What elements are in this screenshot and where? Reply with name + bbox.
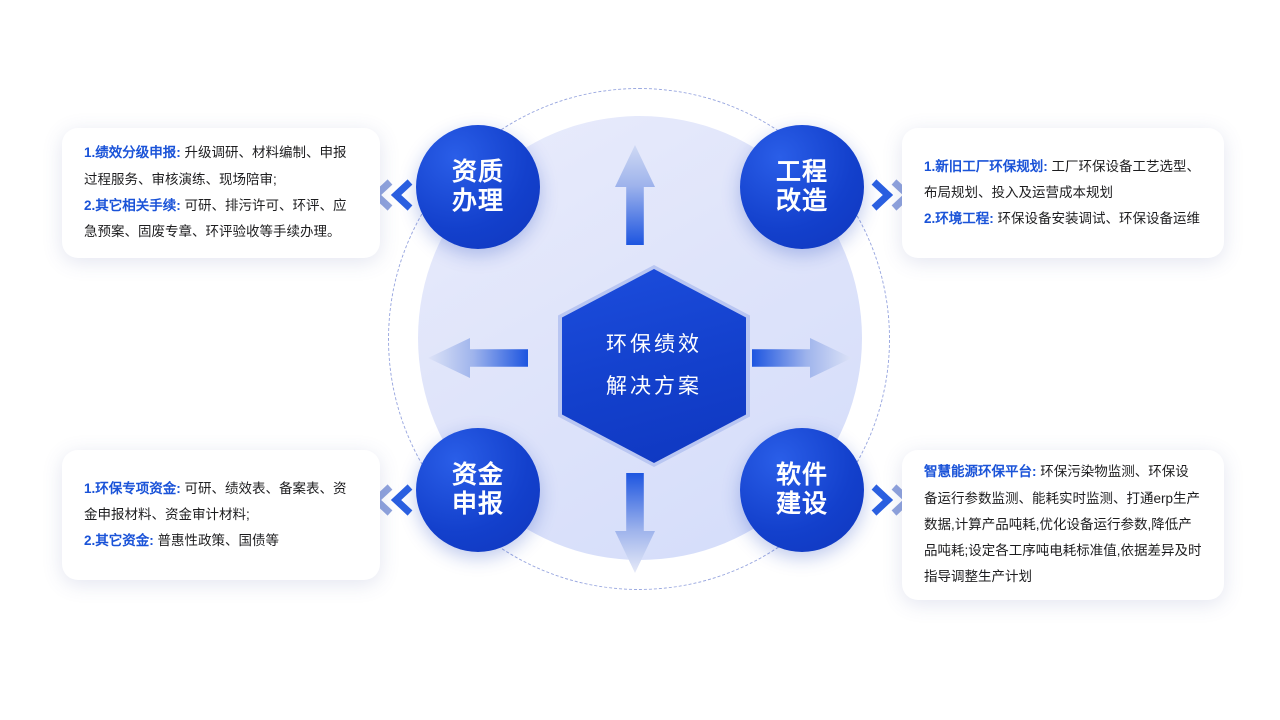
card-bl-text-2: 普惠性政策、国债等 [154, 533, 279, 548]
card-bl-item-2: 2.其它资金: 普惠性政策、国债等 [84, 528, 358, 554]
node-engineering-line2: 改造 [776, 187, 828, 216]
card-tl-label-1: 1.绩效分级申报: [84, 145, 181, 160]
card-bl-item-1: 1.环保专项资金: 可研、绩效表、备案表、资金申报材料、资金审计材料; [84, 476, 358, 529]
center-hexagon[interactable]: 环保绩效 解决方案 [558, 265, 750, 467]
card-tl-item-1: 1.绩效分级申报: 升级调研、材料编制、申报过程服务、审核演练、现场陪审; [84, 140, 358, 193]
info-card-qualification: 1.绩效分级申报: 升级调研、材料编制、申报过程服务、审核演练、现场陪审; 2.… [62, 128, 380, 258]
node-engineering-line1: 工程 [776, 158, 828, 187]
card-tr-label-2: 2.环境工程: [924, 211, 994, 226]
node-software-line1: 软件 [776, 461, 828, 490]
node-qualification-line1: 资质 [452, 158, 504, 187]
card-tr-label-1: 1.新旧工厂环保规划: [924, 159, 1048, 174]
node-funding-line2: 申报 [452, 490, 504, 519]
diagram-canvas: 资质 办理 工程 改造 资金 申报 软件 建设 环保绩效 解决方案 [0, 0, 1280, 720]
card-tl-item-2: 2.其它相关手续: 可研、排污许可、环评、应急预案、固废专章、环评验收等手续办理… [84, 193, 358, 246]
card-br-text-1: 环保污染物监测、环保设备运行参数监测、能耗实时监测、打通erp生产数据,计算产品… [924, 464, 1202, 584]
card-tr-item-2: 2.环境工程: 环保设备安装调试、环保设备运维 [924, 206, 1202, 232]
card-br-label-1: 智慧能源环保平台: [924, 464, 1037, 479]
node-funding[interactable]: 资金 申报 [416, 428, 540, 552]
card-tr-item-1: 1.新旧工厂环保规划: 工厂环保设备工艺选型、布局规划、投入及运营成本规划 [924, 154, 1202, 207]
card-bl-label-2: 2.其它资金: [84, 533, 154, 548]
info-card-funding: 1.环保专项资金: 可研、绩效表、备案表、资金申报材料、资金审计材料; 2.其它… [62, 450, 380, 580]
info-card-software: 智慧能源环保平台: 环保污染物监测、环保设备运行参数监测、能耗实时监测、打通er… [902, 450, 1224, 600]
card-tr-text-2: 环保设备安装调试、环保设备运维 [994, 211, 1200, 226]
node-qualification[interactable]: 资质 办理 [416, 125, 540, 249]
center-hub: 资质 办理 工程 改造 资金 申报 软件 建设 环保绩效 解决方案 [370, 80, 910, 640]
center-title-line2: 解决方案 [606, 366, 702, 408]
center-title-line1: 环保绩效 [606, 324, 702, 366]
node-software-line2: 建设 [776, 490, 828, 519]
node-engineering[interactable]: 工程 改造 [740, 125, 864, 249]
node-software[interactable]: 软件 建设 [740, 428, 864, 552]
hexagon-body: 环保绩效 解决方案 [562, 269, 746, 463]
card-br-item-1: 智慧能源环保平台: 环保污染物监测、环保设备运行参数监测、能耗实时监测、打通er… [924, 459, 1202, 591]
card-tl-label-2: 2.其它相关手续: [84, 198, 181, 213]
card-bl-label-1: 1.环保专项资金: [84, 481, 181, 496]
node-qualification-line2: 办理 [452, 187, 504, 216]
info-card-engineering: 1.新旧工厂环保规划: 工厂环保设备工艺选型、布局规划、投入及运营成本规划 2.… [902, 128, 1224, 258]
node-funding-line1: 资金 [452, 461, 504, 490]
